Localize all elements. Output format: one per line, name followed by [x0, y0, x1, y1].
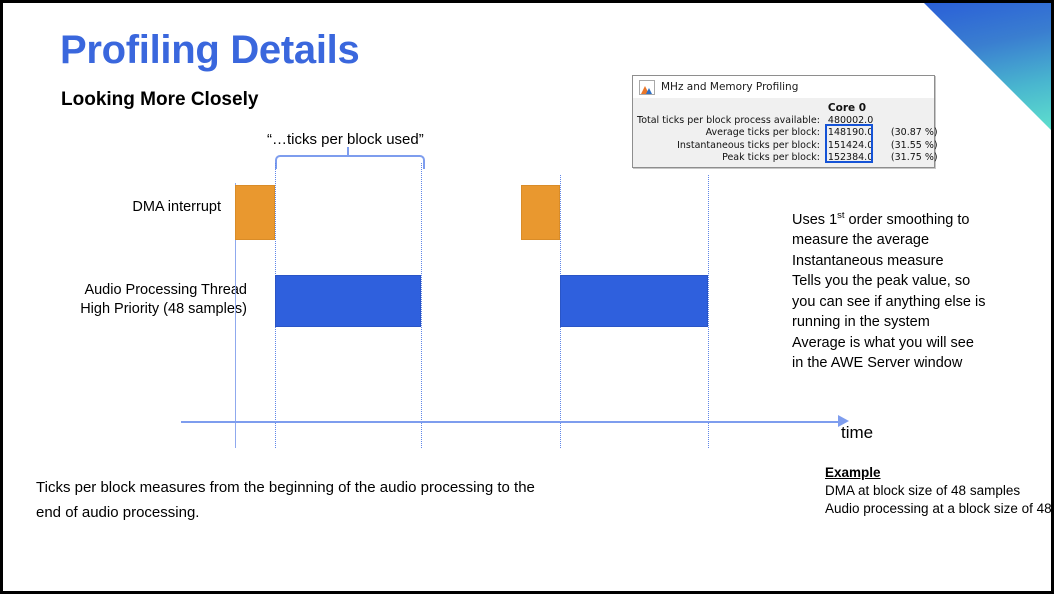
profiling-table: Core 0 Total ticks per block process ava… [637, 102, 938, 165]
time-axis-arrow-icon [838, 415, 849, 427]
bottom-note-line-2: end of audio processing. [36, 500, 566, 525]
row-label-average-ticks: Average ticks per block: [637, 127, 826, 140]
bottom-note: Ticks per block measures from the beginn… [36, 475, 566, 525]
notes-block: Uses 1st order smoothing to measure the … [792, 206, 1047, 374]
dialog-titlebar[interactable]: MHz and Memory Profiling [633, 76, 934, 98]
row-label-peak-ticks: Peak ticks per block: [637, 152, 826, 165]
row-pct-peak-ticks: (31.75 %) [887, 152, 938, 165]
header-spacer [637, 102, 826, 115]
dialog-title-text: MHz and Memory Profiling [661, 81, 798, 93]
corner-gradient-decoration [924, 3, 1051, 130]
brace-stem [347, 147, 349, 157]
example-heading: Example [825, 464, 1054, 482]
note-line-8: in the AWE Server window [792, 353, 1047, 374]
guide-line-block1-start [275, 163, 276, 448]
example-block: Example DMA at block size of 48 samples … [825, 464, 1054, 518]
guide-line-block1-end [421, 163, 422, 448]
row-label-total-ticks: Total ticks per block process available: [637, 115, 826, 128]
note-line-3: Instantaneous measure [792, 251, 1047, 272]
row-value-total-ticks: 480002.0 [826, 115, 887, 128]
row-value-average-ticks: 148190.0 [826, 127, 887, 140]
row-pct-total-ticks [887, 115, 938, 128]
table-row: Total ticks per block process available:… [637, 115, 938, 128]
row-pct-instantaneous-ticks: (31.55 %) [887, 140, 938, 153]
dma-interrupt-bar [521, 185, 560, 240]
ticks-per-block-brace [275, 155, 425, 169]
row-label-instantaneous-ticks: Instantaneous ticks per block: [637, 140, 826, 153]
row-label-dma-interrupt: DMA interrupt [132, 198, 221, 217]
example-line-1: DMA at block size of 48 samples [825, 482, 1054, 500]
bottom-note-line-1: Ticks per block measures from the beginn… [36, 475, 566, 500]
page-title: Profiling Details [60, 28, 359, 73]
note-line-7: Average is what you will see [792, 333, 1047, 354]
note-line-1: Uses 1st order smoothing to [792, 206, 1047, 230]
audio-processing-bar [275, 275, 421, 327]
table-row: Peak ticks per block: 152384.0 (31.75 %) [637, 152, 938, 165]
mhz-memory-profiling-dialog[interactable]: MHz and Memory Profiling Core 0 Total ti… [632, 75, 935, 168]
table-row: Instantaneous ticks per block: 151424.0 … [637, 140, 938, 153]
guide-line-origin [235, 183, 236, 448]
matlab-peaks-icon [639, 80, 655, 95]
time-axis-line [181, 421, 841, 423]
row-label-audio-line1: Audio Processing Thread [80, 281, 247, 300]
row-pct-average-ticks: (30.87 %) [887, 127, 938, 140]
table-row: Average ticks per block: 148190.0 (30.87… [637, 127, 938, 140]
note-line-6: running in the system [792, 312, 1047, 333]
audio-processing-bar [560, 275, 708, 327]
guide-line-block2-start [560, 175, 561, 448]
dialog-body: Core 0 Total ticks per block process ava… [633, 98, 934, 167]
row-value-peak-ticks: 152384.0 [826, 152, 887, 165]
example-line-2: Audio processing at a block size of 48 [825, 500, 1054, 518]
note-line-2: measure the average [792, 230, 1047, 251]
row-label-audio-processing-thread: Audio Processing Thread High Priority (4… [80, 281, 247, 319]
row-label-audio-line2: High Priority (48 samples) [80, 300, 247, 319]
page-subtitle: Looking More Closely [61, 89, 258, 111]
table-header-row: Core 0 [637, 102, 938, 115]
guide-line-block2-end [708, 175, 709, 448]
dma-interrupt-bar [235, 185, 275, 240]
row-value-instantaneous-ticks: 151424.0 [826, 140, 887, 153]
note-line-5: you can see if anything else is [792, 292, 1047, 313]
column-header-core0: Core 0 [826, 102, 887, 115]
brace-caption: “…ticks per block used” [267, 131, 424, 148]
slide-canvas: Profiling Details Looking More Closely “… [0, 0, 1054, 594]
time-axis-label: time [841, 423, 873, 443]
note-line-4: Tells you the peak value, so [792, 271, 1047, 292]
